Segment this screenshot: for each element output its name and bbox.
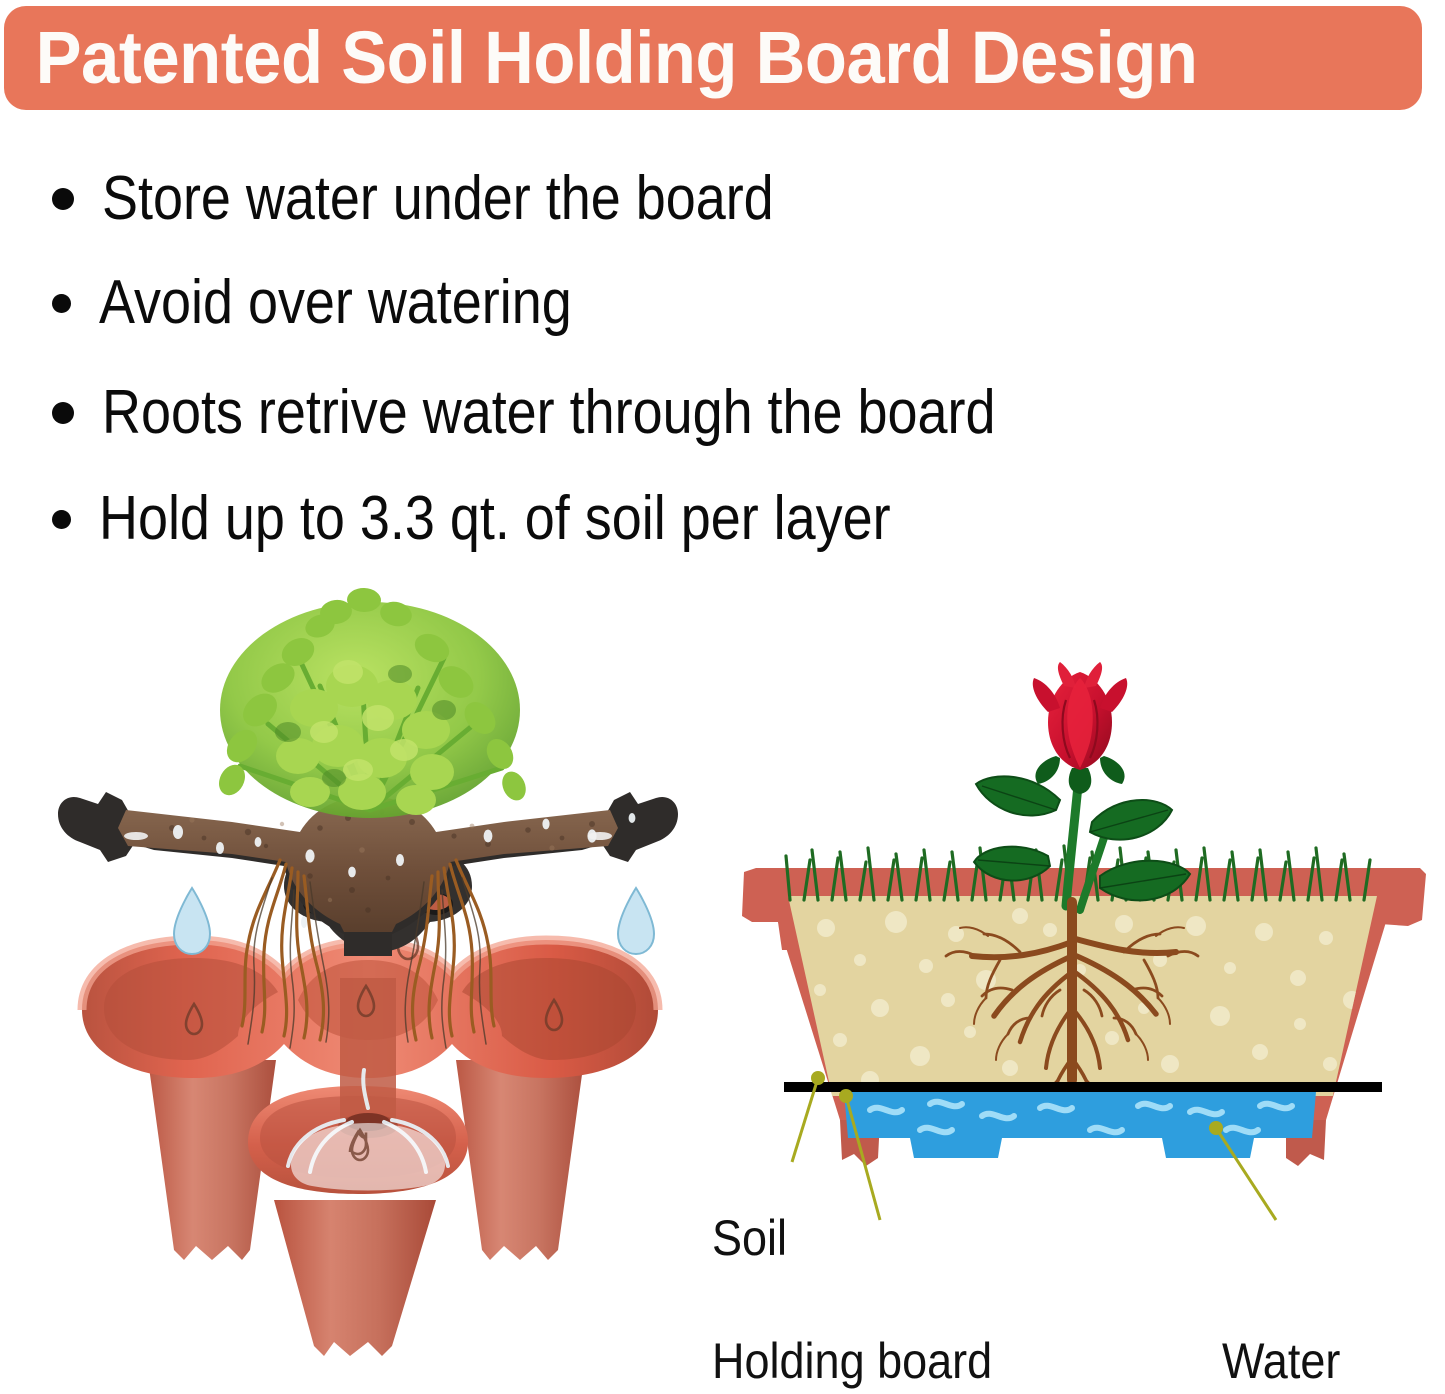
bullet-dot-icon [52, 188, 74, 210]
cross-section-diagram [720, 660, 1445, 1280]
list-item: Hold up to 3.3 qt. of soil per layer [52, 488, 1009, 550]
callout-label-holding-board: Holding board [712, 1336, 992, 1386]
bullet-label: Store water under the board [102, 168, 774, 230]
bullet-dot-icon [52, 510, 71, 529]
page-title: Patented Soil Holding Board Design [4, 21, 1197, 95]
bullet-dot-icon [52, 294, 71, 313]
callout-label-soil: Soil [712, 1213, 787, 1263]
list-item: Avoid over watering [52, 272, 642, 334]
holding-board-line [784, 1082, 1382, 1092]
bullet-label: Hold up to 3.3 qt. of soil per layer [99, 488, 891, 550]
bullet-label: Roots retrive water through the board [102, 382, 995, 444]
bullet-dot-icon [52, 402, 74, 424]
pot-cross-section-illustration [720, 660, 1445, 1280]
list-item: Store water under the board [52, 168, 874, 230]
callout-label-water: Water [1222, 1336, 1340, 1386]
infographic-page: Patented Soil Holding Board Design Store… [0, 0, 1445, 1394]
list-item: Roots retrive water through the board [52, 382, 1129, 444]
product-photo-stacking-planter [52, 560, 712, 1370]
water-reservoir [844, 1092, 1316, 1158]
bullet-label: Avoid over watering [99, 272, 572, 334]
plant-foliage [214, 587, 530, 818]
header-banner: Patented Soil Holding Board Design [4, 6, 1422, 110]
planter-illustration [52, 560, 712, 1370]
rose-flower-icon [1033, 662, 1127, 770]
